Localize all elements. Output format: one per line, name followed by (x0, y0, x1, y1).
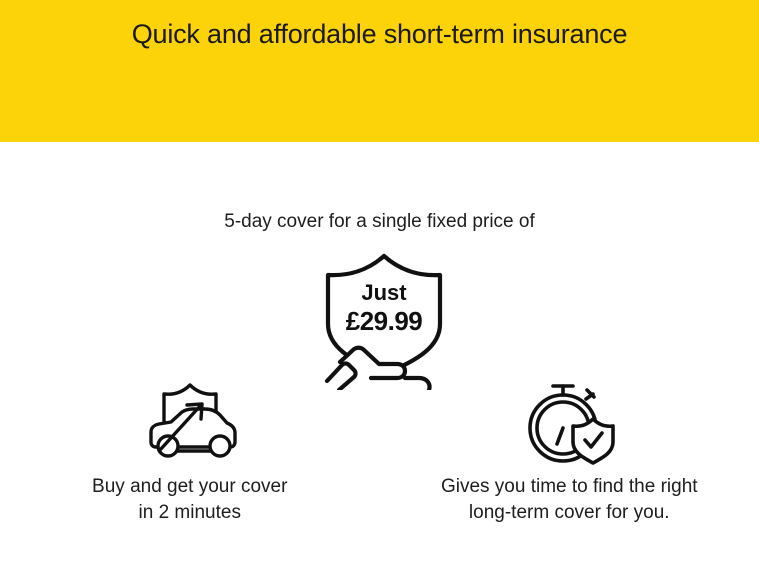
feature-caption: Buy and get your cover in 2 minutes (92, 474, 287, 526)
feature-icon-wrapper (135, 378, 245, 466)
shield-in-hand-icon (309, 250, 459, 390)
feature-icon-wrapper (517, 378, 621, 466)
feature-item-long-term: Gives you time to find the right long-te… (380, 378, 759, 538)
yellow-banner: Temporary car insurance Quick and afford… (0, 0, 759, 142)
price-lead-text: 5-day cover for a single fixed price of (0, 209, 759, 235)
headline-clipped: Temporary car insurance (0, 0, 759, 2)
car-shield-arrow-icon (135, 380, 245, 464)
headline-text: Temporary car insurance (0, 0, 759, 2)
feature-item-buy-speed: Buy and get your cover in 2 minutes (0, 378, 380, 538)
banner-subtitle: Quick and affordable short-term insuranc… (0, 17, 759, 51)
price-badge: Just £29.99 (309, 250, 459, 390)
feature-row: Buy and get your cover in 2 minutes (0, 378, 759, 538)
stopwatch-shield-check-icon (517, 378, 621, 466)
main-content: 5-day cover for a single fixed price of … (0, 142, 759, 569)
feature-caption: Gives you time to find the right long-te… (441, 474, 698, 526)
